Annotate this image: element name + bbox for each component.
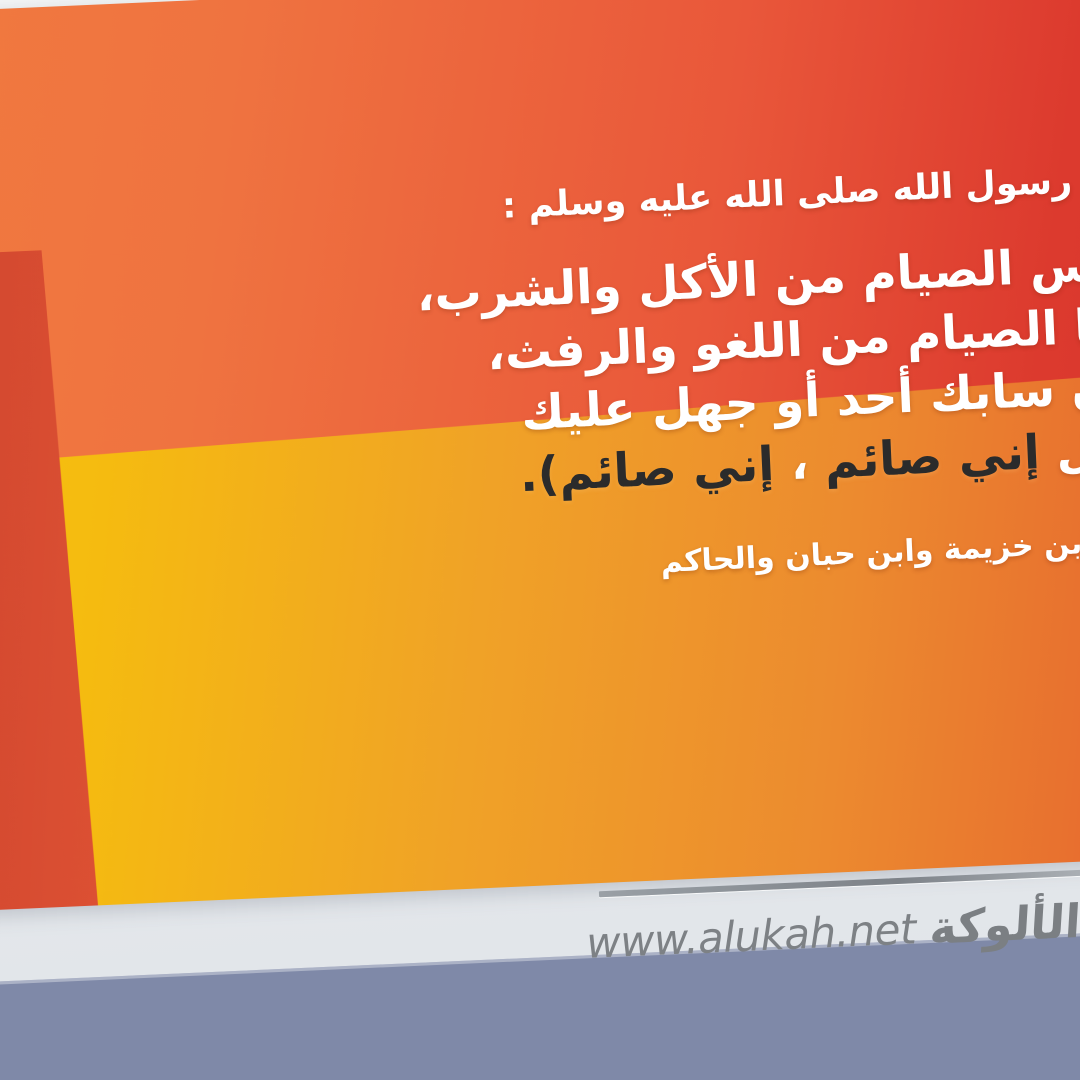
quote-block: قال رسول الله صلى الله عليه وسلم : (ليس …: [29, 158, 1080, 608]
quote-text-layer: قال رسول الله صلى الله عليه وسلم : (ليس …: [0, 0, 1080, 911]
alukah-logo[interactable]: الألوكة: [928, 894, 1080, 955]
hadith-intro: قال رسول الله صلى الله عليه وسلم :: [29, 158, 1080, 249]
website-url[interactable]: www.alukah.net: [585, 904, 917, 968]
hadith-attribution: رواه ابن خزيمة وابن حبان والحاكم: [45, 523, 1080, 608]
footer-row: www.alukah.net الألوكة: [560, 888, 1080, 977]
hadith-line-4-prefix: فقل: [1039, 419, 1080, 479]
hadith-emphasis-2: إني صائم: [558, 437, 775, 502]
hadith-line-4-suffix: ).: [519, 446, 561, 503]
hadith-emphasis-separator: ،: [773, 434, 826, 491]
poster-canvas: قال رسول الله صلى الله عليه وسلم : (ليس …: [0, 0, 1080, 1080]
hadith-emphasis-1: إني صائم: [824, 425, 1041, 490]
